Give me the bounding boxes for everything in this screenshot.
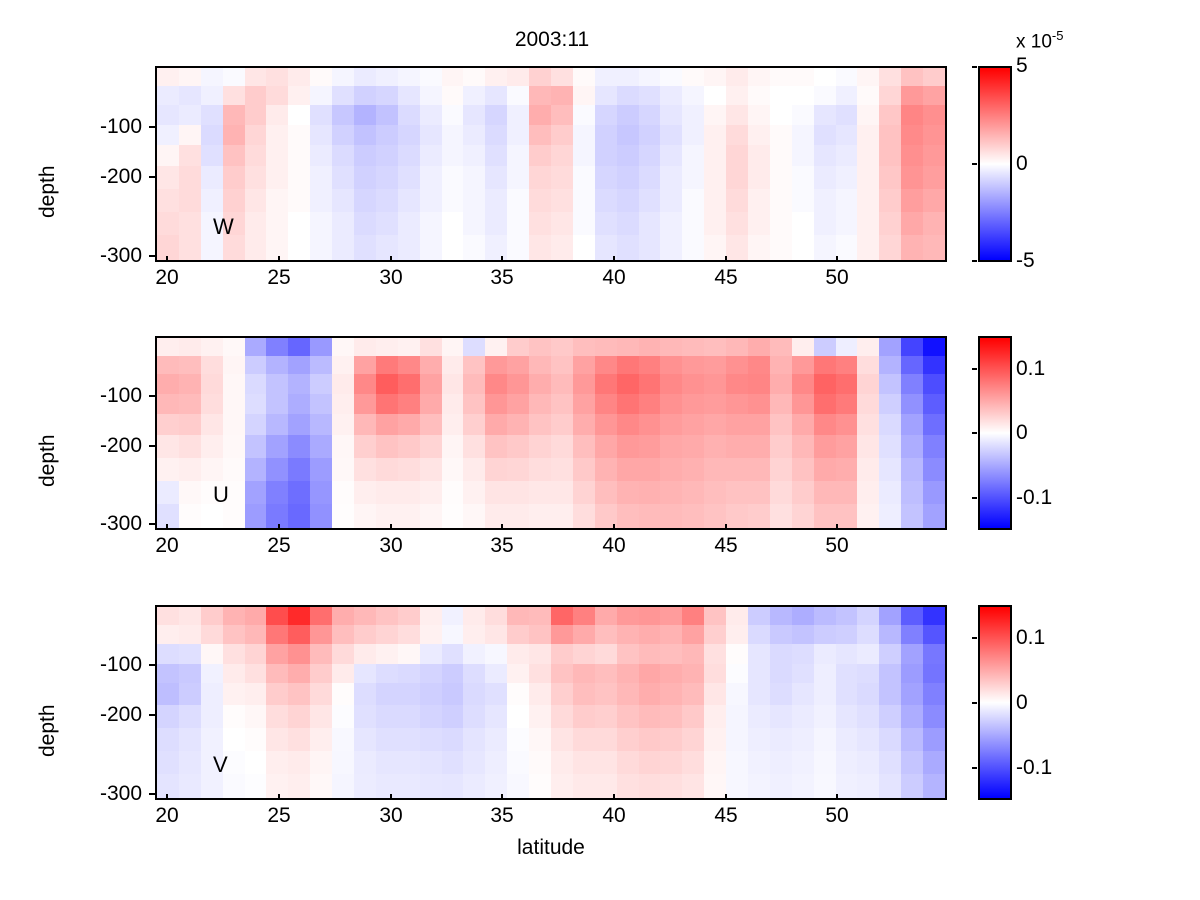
- heatmap-cell: [704, 774, 726, 798]
- heatmap-cell: [442, 394, 464, 414]
- heatmap-cell: [288, 145, 310, 167]
- heatmap-cell: [836, 728, 858, 751]
- heatmap-cell: [639, 774, 661, 798]
- heatmap-cell: [879, 189, 901, 212]
- heatmap-cell: [814, 774, 836, 798]
- heatmap-cell: [507, 458, 529, 481]
- heatmap-cell: [442, 189, 464, 212]
- heatmap-cell: [245, 458, 267, 481]
- heatmap-cell: [376, 356, 398, 374]
- heatmap-cell: [836, 166, 858, 189]
- heatmap-cell: [266, 86, 288, 104]
- heatmap-cell: [814, 607, 836, 625]
- colorbar-tick-mark: [972, 66, 977, 68]
- heatmap-cell: [398, 166, 420, 189]
- heatmap-cell: [792, 607, 814, 625]
- heatmap-cell: [726, 644, 748, 664]
- heatmap-cell: [901, 374, 923, 394]
- heatmap-cell: [463, 644, 485, 664]
- heatmap-cell: [463, 504, 485, 528]
- heatmap-cell: [857, 751, 879, 774]
- heatmap-cell: [660, 705, 682, 728]
- heatmap-cell: [617, 145, 639, 167]
- heatmap-cell: [529, 125, 551, 145]
- heatmap-cell: [704, 435, 726, 458]
- heatmap-cell: [660, 145, 682, 167]
- heatmap-cell: [420, 607, 442, 625]
- heatmap-cell: [595, 125, 617, 145]
- heatmap-cell: [376, 68, 398, 86]
- heatmap-cell: [901, 664, 923, 684]
- heatmap-cell: [288, 625, 310, 643]
- heatmap-cell: [639, 338, 661, 356]
- heatmap-cell: [836, 504, 858, 528]
- xtick-label: 35: [472, 534, 532, 558]
- heatmap-cell: [879, 212, 901, 235]
- heatmap-cell: [442, 86, 464, 104]
- heatmap-cell: [245, 728, 267, 751]
- heatmap-cell: [442, 105, 464, 125]
- heatmap-cell: [770, 212, 792, 235]
- heatmap-cell: [792, 705, 814, 728]
- heatmap-cell: [223, 705, 245, 728]
- heatmap-cell: [682, 145, 704, 167]
- heatmap-cell: [617, 105, 639, 125]
- heatmap-cell: [923, 235, 945, 260]
- heatmap-cell: [376, 145, 398, 167]
- heatmap-cell: [617, 212, 639, 235]
- heatmap-cell: [595, 644, 617, 664]
- heatmap-cell: [595, 625, 617, 643]
- heatmap-cell: [157, 728, 179, 751]
- heatmap-cell: [529, 705, 551, 728]
- heatmap-cell: [529, 751, 551, 774]
- heatmap-cell: [704, 212, 726, 235]
- heatmap-cell: [879, 458, 901, 481]
- heatmap-cell: [376, 683, 398, 704]
- heatmap-cell: [857, 374, 879, 394]
- heatmap-cell: [836, 394, 858, 414]
- heatmap-cell: [551, 774, 573, 798]
- heatmap-cell: [595, 86, 617, 104]
- heatmap-cell: [617, 481, 639, 504]
- heatmap-cell: [792, 504, 814, 528]
- heatmap-cell: [485, 338, 507, 356]
- heatmap-cell: [595, 68, 617, 86]
- heatmap-cell: [398, 125, 420, 145]
- heatmap-cell: [573, 338, 595, 356]
- heatmap-cell: [639, 394, 661, 414]
- heatmap-cell: [201, 125, 223, 145]
- heatmap-cell: [704, 728, 726, 751]
- heatmap-cell: [573, 705, 595, 728]
- heatmap-cell: [639, 435, 661, 458]
- heatmap-cell: [682, 235, 704, 260]
- heatmap-cell: [179, 166, 201, 189]
- heatmap-cell: [376, 607, 398, 625]
- heatmap-cell: [157, 105, 179, 125]
- heatmap-cell: [551, 166, 573, 189]
- heatmap-cell: [485, 644, 507, 664]
- xtick-label: 50: [807, 534, 867, 558]
- heatmap-cell: [201, 374, 223, 394]
- heatmap-cell: [814, 728, 836, 751]
- colorbar-tick-label: 0: [1016, 691, 1028, 715]
- heatmap-cell: [376, 189, 398, 212]
- heatmap-cell: [310, 125, 332, 145]
- heatmap-cell: [201, 728, 223, 751]
- heatmap-cell: [485, 751, 507, 774]
- heatmap-cell: [792, 728, 814, 751]
- heatmap-cell: [879, 356, 901, 374]
- heatmap-cell: [354, 435, 376, 458]
- heatmap-cell: [266, 125, 288, 145]
- figure-canvas: 2003:11 W -100 -200 -300 depth 20 25 30 …: [0, 0, 1200, 900]
- heatmap-cell: [836, 356, 858, 374]
- heatmap-cell: [879, 625, 901, 643]
- heatmap-cell: [748, 125, 770, 145]
- heatmap-cell: [201, 458, 223, 481]
- heatmap-cell: [442, 356, 464, 374]
- heatmap-cell: [901, 105, 923, 125]
- heatmap-cell: [376, 394, 398, 414]
- heatmap-cell: [463, 607, 485, 625]
- heatmap-cell: [879, 374, 901, 394]
- heatmap-cell: [573, 394, 595, 414]
- heatmap-cell: [463, 435, 485, 458]
- heatmap-cell: [879, 394, 901, 414]
- xtick-mark: [613, 256, 615, 262]
- heatmap-cell: [529, 394, 551, 414]
- heatmap-cell: [857, 394, 879, 414]
- heatmap-cell: [923, 86, 945, 104]
- heatmap-cell: [901, 86, 923, 104]
- heatmap-cell: [529, 481, 551, 504]
- heatmap-cell: [551, 235, 573, 260]
- heatmap-cell: [617, 728, 639, 751]
- heatmap-cell: [726, 68, 748, 86]
- heatmap-cell: [529, 86, 551, 104]
- yaxis-label: depth: [36, 165, 60, 218]
- heatmap-cell: [398, 189, 420, 212]
- heatmap-cell: [507, 338, 529, 356]
- heatmap-cell: [573, 683, 595, 704]
- heatmap-cell: [201, 166, 223, 189]
- heatmap-cell: [901, 504, 923, 528]
- heatmap-cell: [266, 356, 288, 374]
- heatmap-cell: [617, 86, 639, 104]
- heatmap-cell: [792, 212, 814, 235]
- heatmap-cell: [507, 625, 529, 643]
- heatmap-cell: [157, 458, 179, 481]
- heatmap-cell: [595, 356, 617, 374]
- heatmap-cell: [573, 235, 595, 260]
- heatmap-cell: [639, 212, 661, 235]
- heatmap-cell: [901, 125, 923, 145]
- heatmap-cell: [507, 105, 529, 125]
- heatmap-cell: [770, 235, 792, 260]
- heatmap-cell: [157, 435, 179, 458]
- heatmap-cell: [617, 68, 639, 86]
- heatmap-cell: [660, 683, 682, 704]
- heatmap-cell: [354, 705, 376, 728]
- heatmap-cell: [288, 394, 310, 414]
- heatmap-cell: [310, 625, 332, 643]
- heatmap-cell: [879, 235, 901, 260]
- heatmap-cell: [288, 356, 310, 374]
- heatmap-cell: [157, 189, 179, 212]
- heatmap-cell: [551, 394, 573, 414]
- heatmap-cell: [639, 728, 661, 751]
- heatmap-cell: [354, 644, 376, 664]
- heatmap-cell: [376, 86, 398, 104]
- heatmap-cell: [442, 166, 464, 189]
- heatmap-cell: [923, 394, 945, 414]
- heatmap-cell: [923, 644, 945, 664]
- heatmap-cell: [507, 68, 529, 86]
- heatmap-cell: [639, 68, 661, 86]
- heatmap-cell: [836, 235, 858, 260]
- heatmap-cell: [485, 145, 507, 167]
- heatmap-cell: [639, 374, 661, 394]
- heatmap-cell: [420, 728, 442, 751]
- heatmap-cell: [704, 458, 726, 481]
- heatmap-cell: [310, 664, 332, 684]
- heatmap-cell: [770, 189, 792, 212]
- heatmap-cell: [901, 607, 923, 625]
- heatmap-cell: [617, 414, 639, 435]
- heatmap-cell: [332, 86, 354, 104]
- heatmap-cell: [332, 394, 354, 414]
- heatmap-cell: [857, 625, 879, 643]
- heatmap-cell: [923, 705, 945, 728]
- heatmap-cell: [923, 125, 945, 145]
- heatmap-cell: [354, 166, 376, 189]
- heatmap-cell: [573, 125, 595, 145]
- heatmap-cell: [551, 728, 573, 751]
- heatmap-cell: [485, 68, 507, 86]
- heatmap-cell: [748, 338, 770, 356]
- heatmap-cell: [923, 481, 945, 504]
- heatmap-cell: [288, 458, 310, 481]
- heatmap-cell: [573, 751, 595, 774]
- heatmap-cell: [639, 105, 661, 125]
- heatmap-cell: [266, 374, 288, 394]
- heatmap-cell: [573, 166, 595, 189]
- heatmap-cell: [223, 189, 245, 212]
- heatmap-cell: [442, 212, 464, 235]
- heatmap-cell: [332, 481, 354, 504]
- heatmap-cell: [836, 625, 858, 643]
- heatmap-cell: [551, 664, 573, 684]
- heatmap-cell: [376, 414, 398, 435]
- heatmap-cell: [507, 481, 529, 504]
- heatmap-cell: [376, 705, 398, 728]
- heatmap-cell: [726, 705, 748, 728]
- heatmap-cell: [398, 728, 420, 751]
- heatmap-cell: [376, 481, 398, 504]
- heatmap-cell: [332, 235, 354, 260]
- heatmap-cell: [442, 728, 464, 751]
- heatmap-cell: [770, 607, 792, 625]
- heatmap-cell: [398, 86, 420, 104]
- heatmap-cell: [157, 145, 179, 167]
- heatmap-cell: [726, 356, 748, 374]
- heatmap-cell: [748, 504, 770, 528]
- heatmap-cell: [901, 705, 923, 728]
- heatmap-cell: [814, 394, 836, 414]
- heatmap-cell: [420, 481, 442, 504]
- heatmap-cell: [660, 68, 682, 86]
- heatmap-cell: [485, 374, 507, 394]
- heatmap-cell: [266, 664, 288, 684]
- xtick-mark: [725, 256, 727, 262]
- heatmap-cell: [639, 664, 661, 684]
- heatmap-cell: [814, 68, 836, 86]
- heatmap-cell: [617, 235, 639, 260]
- heatmap-cell: [923, 374, 945, 394]
- heatmap-cell: [398, 504, 420, 528]
- heatmap-cell: [420, 414, 442, 435]
- heatmap-cell: [310, 338, 332, 356]
- heatmap-cell: [836, 374, 858, 394]
- heatmap-cell: [485, 664, 507, 684]
- heatmap-cell: [245, 68, 267, 86]
- heatmap-cell: [682, 68, 704, 86]
- heatmap-cell: [879, 705, 901, 728]
- ytick-label: -200: [52, 434, 142, 458]
- heatmap-cell: [223, 86, 245, 104]
- heatmap-cell: [332, 68, 354, 86]
- heatmap-cell: [420, 166, 442, 189]
- heatmap-cell: [201, 68, 223, 86]
- heatmap-cell: [573, 212, 595, 235]
- heatmap-cell: [442, 504, 464, 528]
- heatmap-cell: [682, 435, 704, 458]
- heatmap-cell: [857, 189, 879, 212]
- heatmap-cell: [748, 374, 770, 394]
- heatmap-cell: [682, 774, 704, 798]
- heatmap-cell: [288, 68, 310, 86]
- heatmap-cell: [901, 356, 923, 374]
- heatmap-cell: [879, 481, 901, 504]
- panel-label-v: V: [213, 752, 228, 778]
- heatmap-cell: [639, 145, 661, 167]
- heatmap-cell: [420, 751, 442, 774]
- heatmap-cell: [682, 189, 704, 212]
- heatmap-cell: [617, 189, 639, 212]
- heatmap-cell: [310, 705, 332, 728]
- heatmap-cell: [748, 683, 770, 704]
- heatmap-cell: [354, 728, 376, 751]
- heatmap-cell: [354, 481, 376, 504]
- heatmap-cell: [660, 625, 682, 643]
- xtick-mark: [725, 794, 727, 800]
- heatmap-cell: [617, 125, 639, 145]
- heatmap-cell: [485, 458, 507, 481]
- heatmap-cell: [310, 166, 332, 189]
- heatmap-cell: [879, 728, 901, 751]
- heatmap-cell: [879, 414, 901, 435]
- heatmap-cell: [770, 105, 792, 125]
- heatmap-cell: [792, 125, 814, 145]
- heatmap-cell: [354, 356, 376, 374]
- heatmap-cell: [792, 235, 814, 260]
- colorbar-gradient-u: [980, 338, 1010, 528]
- heatmap-cell: [310, 235, 332, 260]
- heatmap-cell: [748, 705, 770, 728]
- heatmap-cell: [770, 435, 792, 458]
- heatmap-cell: [857, 728, 879, 751]
- heatmap-cell: [463, 105, 485, 125]
- heatmap-cell: [682, 683, 704, 704]
- heatmap-cell: [398, 374, 420, 394]
- heatmap-cell: [595, 414, 617, 435]
- xtick-label: 35: [472, 266, 532, 290]
- heatmap-cell: [726, 125, 748, 145]
- ytick-mark: [149, 176, 155, 178]
- heatmap-cell: [245, 414, 267, 435]
- heatmap-cell: [463, 189, 485, 212]
- heatmap-cell: [551, 435, 573, 458]
- heatmap-cell: [792, 394, 814, 414]
- heatmap-cell: [726, 607, 748, 625]
- heatmap-cell: [617, 705, 639, 728]
- xtick-mark: [501, 794, 503, 800]
- heatmap-cell: [463, 664, 485, 684]
- heatmap-cell: [551, 68, 573, 86]
- heatmap-cell: [704, 607, 726, 625]
- heatmap-cell: [157, 664, 179, 684]
- heatmap-cell: [288, 125, 310, 145]
- heatmap-cell: [223, 68, 245, 86]
- heatmap-cell: [223, 607, 245, 625]
- heatmap-cell: [376, 751, 398, 774]
- heatmap-cell: [814, 664, 836, 684]
- heatmap-cell: [310, 189, 332, 212]
- heatmap-cell: [463, 235, 485, 260]
- heatmap-cell: [879, 166, 901, 189]
- heatmap-cell: [398, 683, 420, 704]
- heatmap-cell: [485, 86, 507, 104]
- heatmap-cell: [923, 664, 945, 684]
- heatmap-cell: [507, 212, 529, 235]
- yaxis-label: depth: [36, 434, 60, 487]
- heatmap-cell: [442, 68, 464, 86]
- heatmap-cell: [901, 212, 923, 235]
- heatmap-cell: [836, 644, 858, 664]
- heatmap-cell: [595, 338, 617, 356]
- heatmap-cell: [923, 166, 945, 189]
- heatmap-cell: [507, 728, 529, 751]
- heatmap-cell: [617, 774, 639, 798]
- heatmap-cell: [485, 394, 507, 414]
- heatmap-cell: [879, 338, 901, 356]
- heatmap-cell: [420, 235, 442, 260]
- heatmap-cell: [463, 625, 485, 643]
- heatmap-cell: [551, 145, 573, 167]
- heatmap-cell: [245, 705, 267, 728]
- heatmap-cell: [398, 145, 420, 167]
- heatmap-cell: [682, 705, 704, 728]
- heatmap-cell: [551, 356, 573, 374]
- heatmap-cell: [463, 212, 485, 235]
- heatmap-cell: [310, 394, 332, 414]
- heatmap-cell: [617, 683, 639, 704]
- heatmap-cell: [332, 774, 354, 798]
- heatmap-cell: [879, 435, 901, 458]
- heatmap-cell: [551, 683, 573, 704]
